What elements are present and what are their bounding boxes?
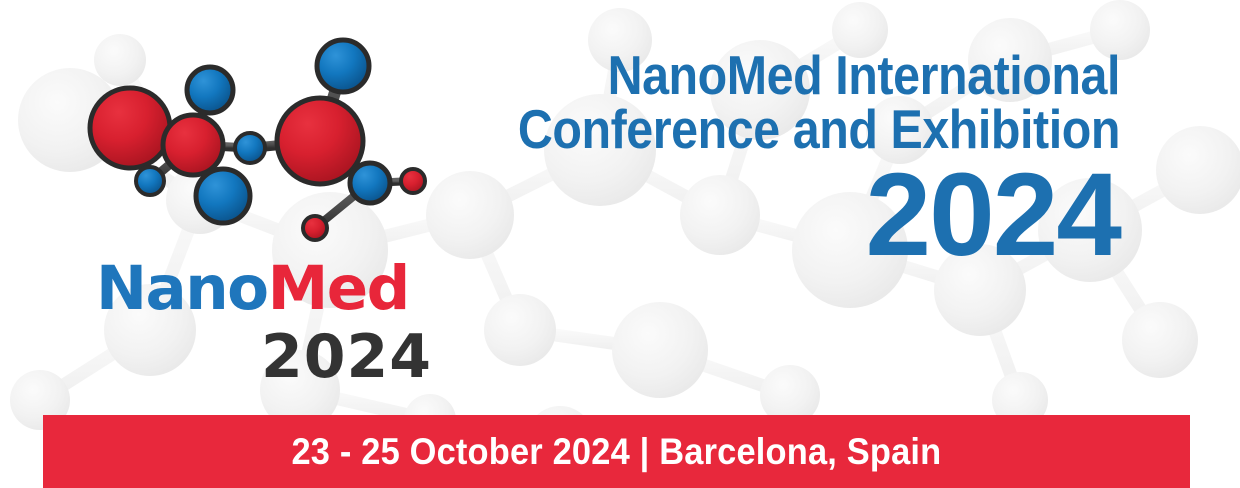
nanomed-logo-wordmark: NanoMed 2024 — [96, 258, 436, 388]
date-location-text: 23 - 25 October 2024 | Barcelona, Spain — [292, 431, 942, 473]
conference-banner: NanoMed 2024 NanoMed International Confe… — [0, 0, 1240, 488]
headline-line-1: NanoMed International — [513, 48, 1120, 102]
logo-nanomed-text: NanoMed — [96, 258, 436, 319]
logo-year-text: 2024 — [96, 327, 436, 387]
logo-med-text: Med — [268, 253, 409, 324]
headline-block: NanoMed International Conference and Exh… — [430, 48, 1120, 272]
logo-nano-text: Nano — [96, 253, 268, 324]
molecule-illustration — [60, 18, 480, 263]
molecule-atoms — [90, 40, 425, 240]
date-location-bar: 23 - 25 October 2024 | Barcelona, Spain — [43, 415, 1190, 488]
headline-year: 2024 — [430, 159, 1120, 272]
